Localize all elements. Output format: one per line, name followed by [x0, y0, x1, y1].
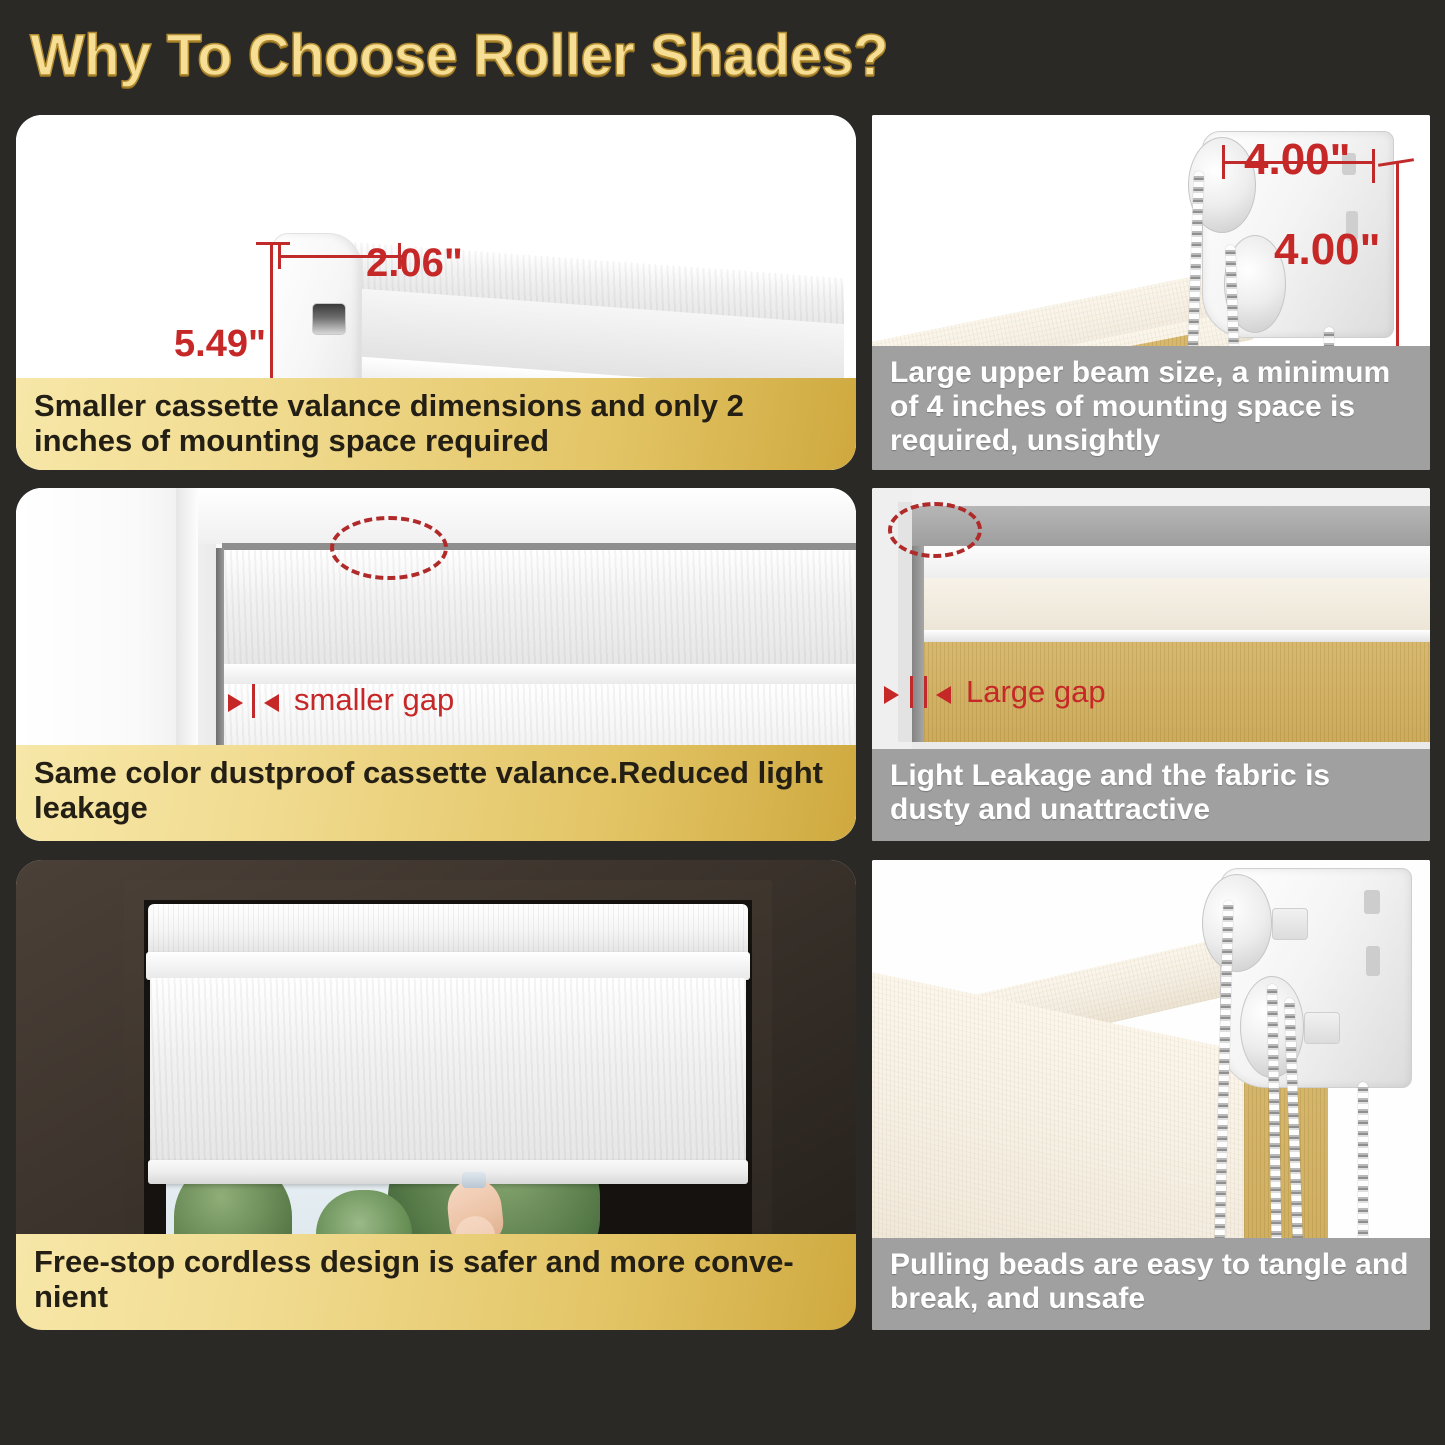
cassette-valance-face [222, 550, 856, 668]
infographic-root: Why To Choose Roller Shades? 2.06" 5.49" [0, 0, 1445, 1445]
panel-3-caption: Same color dustproof cassette valance.Re… [16, 745, 856, 841]
panel-3-caption-wrap: Same color dustproof cassette valance.Re… [16, 745, 856, 841]
panel-smaller-cassette: 2.06" 5.49" Smaller cassette valance dim… [16, 115, 856, 470]
panel-cordless-design: Free-stop cordless design is safer and m… [16, 860, 856, 1330]
panel-dustproof-valance: smaller gap Same color dustproof cassett… [16, 488, 856, 841]
panel-5-caption: Free-stop cordless design is safer and m… [16, 1234, 856, 1330]
panel-4-caption: Light Leakage and the fabric is dusty an… [872, 749, 1430, 841]
panel-2-caption-wrap: Large upper beam size, a minimum of 4 in… [872, 346, 1430, 470]
end-cap-slot [312, 303, 346, 335]
gap-tick-b [924, 676, 927, 708]
bracket-emblem-top [1272, 908, 1308, 940]
panel-1-caption-wrap: Smaller cassette valance dimensions and … [16, 378, 856, 470]
panel-4-caption-wrap: Light Leakage and the fabric is dusty an… [872, 749, 1430, 841]
bracket-emblem-bottom [1304, 1012, 1340, 1044]
bracket-slot-2 [1366, 946, 1380, 976]
valance-lip [146, 952, 750, 980]
upper-beam [908, 506, 1430, 548]
gap-arrow-left-icon [884, 686, 899, 704]
fabric-roll [916, 578, 1430, 634]
dim-h-400-tick-left [1222, 145, 1225, 179]
panel-6-caption-wrap: Pulling beads are easy to tangle and bre… [872, 1238, 1430, 1330]
gap-arrow-right-icon [264, 694, 279, 712]
dim-549-tick-top [256, 242, 290, 245]
dim-h-400-label: 4.00" [1244, 135, 1351, 185]
panel-1-caption: Smaller cassette valance dimensions and … [16, 378, 856, 470]
panel-light-leakage: Large gap Light Leakage and the fabric i… [872, 488, 1430, 841]
highlight-ellipse-icon [330, 516, 448, 580]
gap-tick-a [910, 676, 913, 708]
shade-fabric-panel [150, 978, 746, 1164]
page-title: Why To Choose Roller Shades? [30, 22, 888, 89]
highlight-ellipse-icon [888, 502, 982, 558]
bracket-slot-1 [1364, 890, 1380, 914]
window-header-trim [198, 488, 856, 544]
panel-5-caption-wrap: Free-stop cordless design is safer and m… [16, 1234, 856, 1330]
dim-206-tick-left [278, 243, 281, 269]
roller-end-disc-top [1202, 874, 1272, 972]
rail-handle [462, 1172, 486, 1188]
large-gap-label: Large gap [966, 674, 1106, 710]
dim-206-label: 2.06" [366, 241, 463, 286]
panel-6-caption: Pulling beads are easy to tangle and bre… [872, 1238, 1430, 1330]
panel-2-caption: Large upper beam size, a minimum of 4 in… [872, 346, 1430, 470]
cassette-valance [148, 904, 748, 956]
gap-arrow-left-icon [228, 694, 243, 712]
dim-v-400-line [1396, 163, 1399, 359]
shade-bottom-rail [148, 1160, 748, 1184]
dim-v-400-label: 4.00" [1274, 225, 1381, 275]
beam-white-face [908, 546, 1430, 580]
gap-arrow-right-icon [936, 686, 951, 704]
dim-549-label: 5.49" [174, 323, 266, 366]
panel-pulling-beads: Pulling beads are easy to tangle and bre… [872, 860, 1430, 1330]
panel-large-beam: 4.00" 4.00" Large upper beam size, a min… [872, 115, 1430, 470]
smaller-gap-label: smaller gap [294, 682, 454, 718]
dim-h-400-tick-right [1372, 149, 1375, 183]
gap-tick [252, 684, 255, 718]
